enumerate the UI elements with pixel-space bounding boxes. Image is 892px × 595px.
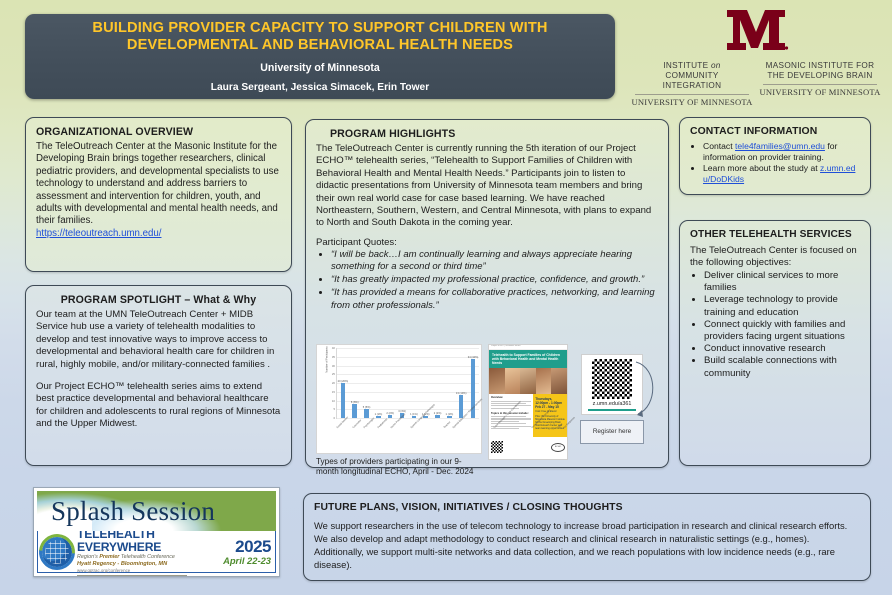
ici-line-1-b: on — [711, 61, 721, 70]
other-telehealth-services-heading: OTHER TELEHEALTH SERVICES — [690, 229, 860, 240]
contact-information-card: CONTACT INFORMATION Contact tele4familie… — [679, 117, 871, 195]
echo-series-flyer-image[interactable]: Project ECHO | Telehealth Series Telehea… — [488, 344, 568, 460]
program-highlights-heading: PROGRAM HIGHLIGHTS — [316, 128, 658, 140]
flyer-photo — [489, 368, 505, 394]
objective-item: Deliver clinical services to more famili… — [704, 270, 860, 294]
tagline-b: Premier — [99, 554, 119, 560]
conference-dates: April 22-23 — [223, 555, 271, 566]
splash-session-image[interactable]: Splash Session TELEHEALTH EVERYWHERE Reg… — [33, 487, 280, 577]
splash-banner: Splash Session — [37, 491, 276, 531]
flyer-footer: ECHO — [489, 437, 567, 459]
poster-title-line-1: BUILDING PROVIDER CAPACITY TO SUPPORT CH… — [92, 20, 547, 37]
chart-bars-plot: 20 (20%)8 (8%)5 (5%)1 (1%)2 (2%)3 (3%)1 … — [336, 348, 479, 419]
qr-short-url: z.umn.edu/a361 — [593, 401, 632, 407]
program-spotlight-card: PROGRAM SPOTLIGHT – What & Why Our team … — [25, 285, 292, 466]
contact-item-pre: Learn more about the study at — [703, 163, 820, 173]
ici-divider — [635, 94, 749, 95]
conference-date-block: 2025 April 22-23 — [223, 538, 271, 566]
umn-m-icon — [723, 6, 789, 59]
midb-line-1: MASONIC INSTITUTE FOR — [766, 61, 875, 71]
highlights-media-row: Number of Participants 0510152025303540 … — [316, 344, 664, 462]
conference-url: www.gptrac.org/conference — [77, 568, 218, 574]
tagline-a: Region's — [77, 554, 99, 560]
flyer-qr-code-icon[interactable] — [491, 441, 503, 453]
chart-y-axis-label: Number of Participants — [326, 335, 329, 385]
tagline-c: Telehealth Conference — [119, 554, 175, 560]
chart-bar-slot: 1 (1%) — [372, 348, 384, 418]
chart-bar-slot: 3 (3%) — [396, 348, 408, 418]
provider-types-figure: Number of Participants 0510152025303540 … — [316, 344, 482, 477]
contact-information-heading: CONTACT INFORMATION — [690, 126, 860, 137]
objective-item: Conduct innovative research — [704, 343, 860, 355]
flyer-photo-strip — [489, 368, 567, 394]
participant-quotes-label: Participant Quotes: — [316, 237, 658, 248]
ici-logo-text: INSTITUTE on COMMUNITY INTEGRATION UNIVE… — [635, 61, 749, 107]
chart-bar-slot: 1 (1%) — [408, 348, 420, 418]
chart-bar — [376, 416, 381, 418]
program-spotlight-paragraph-2: Our Project ECHO™ telehealth series aims… — [36, 381, 281, 431]
umn-logo-block: INSTITUTE on COMMUNITY INTEGRATION UNIVE… — [630, 6, 882, 106]
chart-y-tick: 5 — [333, 407, 335, 411]
chart-y-tick: 40 — [332, 346, 335, 350]
poster-title-line-2: DEVELOPMENTAL AND BEHAVIORAL HEALTH NEED… — [127, 37, 513, 54]
logo-name-row: INSTITUTE on COMMUNITY INTEGRATION UNIVE… — [635, 61, 877, 107]
midb-divider — [763, 84, 877, 85]
conference-tagline: Region's Premier Telehealth Conference — [77, 554, 218, 561]
quote-item: “It has greatly impacted my professional… — [331, 274, 658, 286]
organizational-overview-card: ORGANIZATIONAL OVERVIEW The TeleOutreach… — [25, 117, 292, 272]
future-plans-heading: FUTURE PLANS, VISION, INITIATIVES / CLOS… — [314, 502, 860, 513]
organizational-overview-body: The TeleOutreach Center at the Masonic I… — [36, 141, 281, 228]
chart-bar-slot: 5 (5%) — [361, 348, 373, 418]
chart-bar-series: 20 (20%)8 (8%)5 (5%)1 (1%)2 (2%)3 (3%)1 … — [337, 348, 479, 418]
teleoutreach-link[interactable]: https://teleoutreach.umn.edu/ — [36, 228, 161, 239]
midb-logo-text: MASONIC INSTITUTE FOR THE DEVELOPING BRA… — [763, 61, 877, 97]
chart-y-tick: 15 — [332, 390, 335, 394]
future-plans-body: We support researchers in the use of tel… — [314, 519, 860, 571]
chart-y-tick: 25 — [332, 372, 335, 376]
ici-line-1-a: INSTITUTE — [663, 61, 708, 70]
ici-line-2: COMMUNITY INTEGRATION — [635, 71, 749, 91]
conference-year: 2025 — [235, 538, 271, 555]
splash-session-title: Splash Session — [37, 496, 215, 527]
contact-list: Contact tele4families@umn.edu for inform… — [690, 141, 860, 184]
objectives-list: Deliver clinical services to more famili… — [690, 270, 860, 380]
globe-arc-blue — [32, 526, 83, 577]
other-telehealth-services-card: OTHER TELEHEALTH SERVICES The TeleOutrea… — [679, 220, 871, 466]
spacer — [36, 371, 281, 381]
text-line — [491, 401, 531, 402]
quote-item: “I will be back…I am continually learnin… — [331, 249, 658, 273]
qr-underline — [588, 409, 636, 411]
globe-icon — [42, 537, 72, 567]
chart-bar-slot: 8 (8%) — [349, 348, 361, 418]
other-telehealth-services-intro: The TeleOutreach Center is focused on th… — [690, 245, 860, 269]
chart-plot-area: Number of Participants 0510152025303540 … — [319, 348, 479, 426]
chart-y-axis: Number of Participants 0510152025303540 — [319, 348, 336, 418]
chart-bar-slot: 2 (2%) — [384, 348, 396, 418]
objective-item: Leverage technology to provide training … — [704, 294, 860, 318]
contact-item-study: Learn more about the study at z.umn.edu/… — [703, 163, 860, 184]
program-spotlight-paragraph-1: Our team at the UMN TeleOutreach Center … — [36, 309, 281, 371]
conference-venue: Hyatt Regency - Bloomington, MN — [77, 561, 218, 568]
objective-item: Connect quickly with families and provid… — [704, 319, 860, 343]
chart-y-tick: 0 — [333, 416, 335, 420]
poster-affiliation: University of Minnesota — [260, 62, 380, 74]
conference-name: TELEHEALTH EVERYWHERE — [77, 528, 218, 554]
flyer-photo — [536, 368, 552, 394]
flyer-title: Telehealth to Support Families of Childr… — [489, 350, 567, 368]
ici-line-1: INSTITUTE on — [663, 61, 720, 71]
chart-y-tick: 35 — [332, 355, 335, 359]
poster-title-banner: BUILDING PROVIDER CAPACITY TO SUPPORT CH… — [25, 14, 615, 99]
qr-code-icon[interactable] — [592, 359, 632, 399]
program-spotlight-heading: PROGRAM SPOTLIGHT – What & Why — [36, 294, 281, 306]
chart-y-tick: 30 — [332, 364, 335, 368]
quote-item: “It has provided a means for collaborati… — [331, 287, 658, 311]
chart-bar — [364, 409, 369, 418]
midb-line-2: THE DEVELOPING BRAIN — [767, 71, 872, 81]
chart-bar-slot: 1 (1%) — [443, 348, 455, 418]
organizational-overview-heading: ORGANIZATIONAL OVERVIEW — [36, 126, 281, 138]
poster-canvas: BUILDING PROVIDER CAPACITY TO SUPPORT CH… — [0, 0, 892, 595]
flyer-photo — [551, 368, 567, 394]
contact-item-email: Contact tele4families@umn.edu for inform… — [703, 141, 860, 162]
flyer-dates: Feb 27 - May 15 — [535, 405, 565, 409]
objective-item: Build scalable connections with communit… — [704, 355, 860, 379]
flyer-photo — [505, 368, 521, 394]
chart-bar — [352, 404, 357, 418]
chart-bar — [412, 416, 417, 418]
poster-authors: Laura Sergeant, Jessica Simacek, Erin To… — [211, 82, 429, 93]
contact-item-pre: Contact — [703, 141, 735, 151]
ici-university: UNIVERSITY OF MINNESOTA — [631, 97, 752, 107]
midb-university: UNIVERSITY OF MINNESOTA — [759, 87, 880, 97]
provider-types-bar-chart: Number of Participants 0510152025303540 … — [316, 344, 482, 454]
contact-email-link[interactable]: tele4families@umn.edu — [735, 141, 825, 151]
program-highlights-body: The TeleOutreach Center is currently run… — [316, 143, 658, 230]
flyer-photo — [520, 368, 536, 394]
conference-divider — [77, 575, 187, 576]
flyer-overview-heading: Overview — [491, 396, 531, 399]
chart-x-tick-labels: Social WorkerCounselorPsychologistPediat… — [319, 426, 479, 452]
chart-y-tick: 10 — [332, 399, 335, 403]
curved-arrow-icon — [632, 358, 662, 420]
chart-bar — [341, 383, 346, 418]
chart-bar-slot: 20 (20%) — [337, 348, 349, 418]
chart-bar — [388, 415, 393, 419]
participant-quotes-list: “I will be back…I am continually learnin… — [316, 249, 658, 312]
chart-caption: Types of providers participating in our … — [316, 457, 482, 477]
echo-logo-icon: ECHO — [551, 443, 565, 452]
future-plans-card: FUTURE PLANS, VISION, INITIATIVES / CLOS… — [303, 493, 871, 581]
chart-y-tick: 20 — [332, 381, 335, 385]
program-highlights-card: PROGRAM HIGHLIGHTS The TeleOutreach Cent… — [305, 119, 669, 468]
chart-bar-slot: 13 (13%) — [455, 348, 467, 418]
conference-logo-row: TELEHEALTH EVERYWHERE Region's Premier T… — [37, 531, 276, 573]
conference-text-block: TELEHEALTH EVERYWHERE Region's Premier T… — [77, 528, 218, 576]
